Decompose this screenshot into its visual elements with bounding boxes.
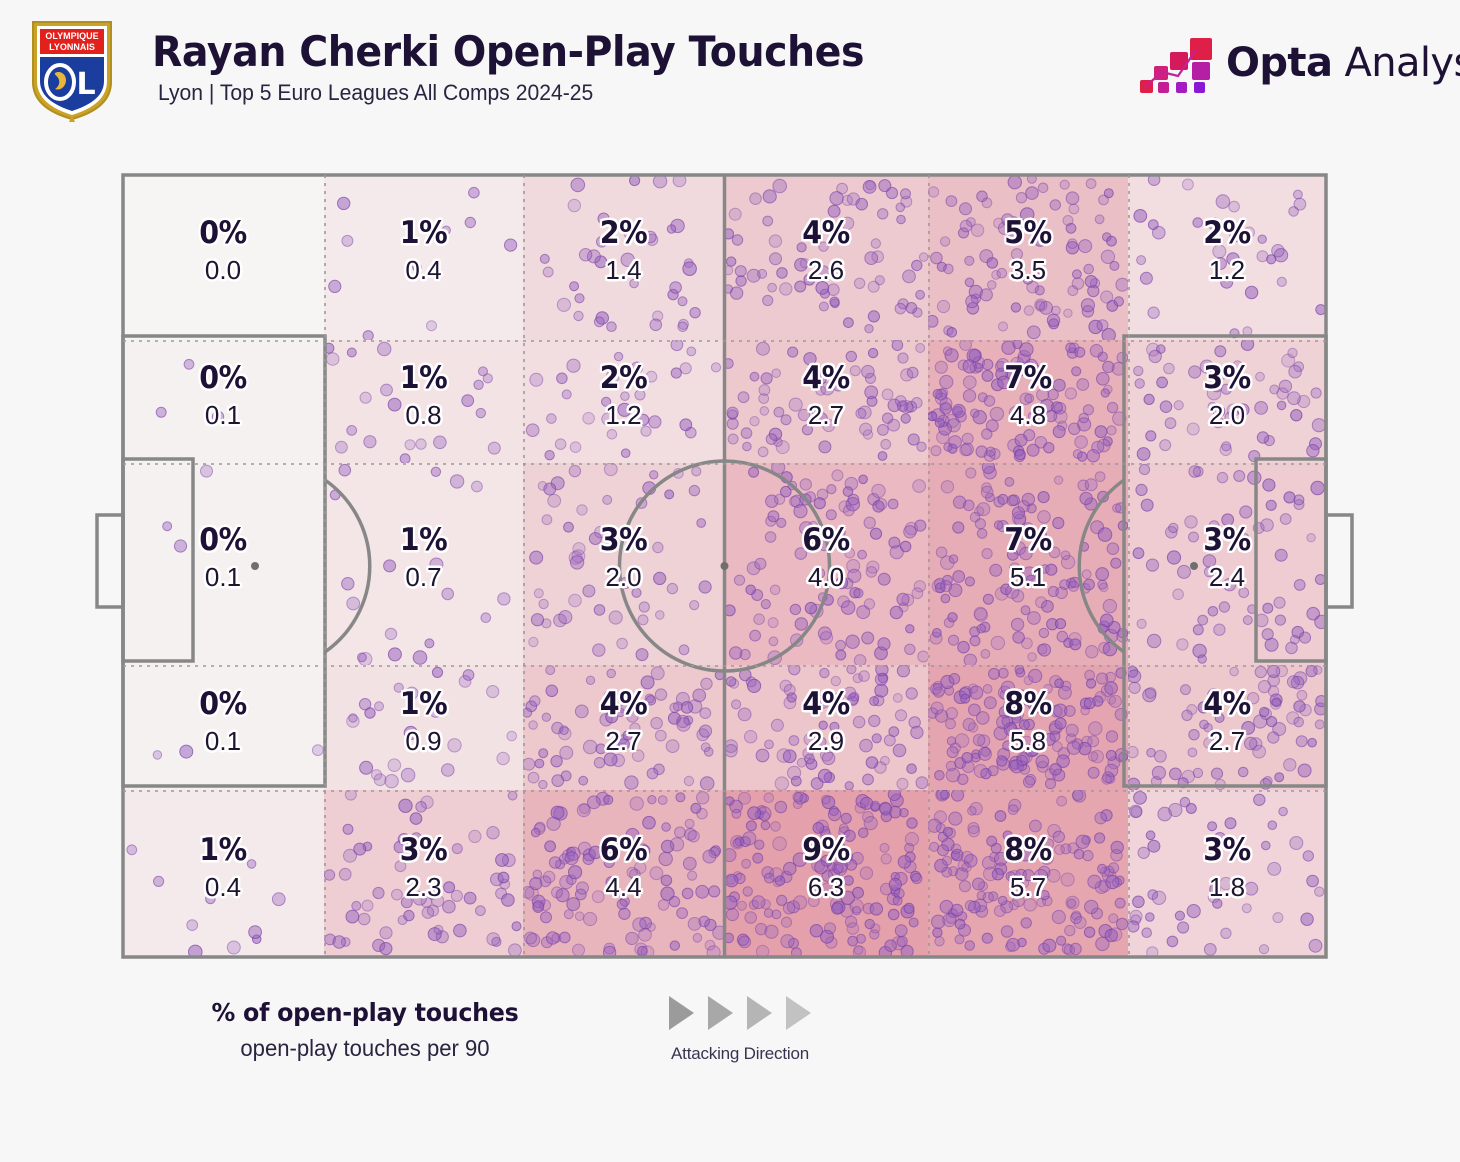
svg-text:OLYMPIQUE: OLYMPIQUE (45, 31, 98, 41)
page-title: Rayan Cherki Open-Play Touches (152, 30, 864, 75)
legend-secondary-label: open-play touches per 90 (207, 1035, 524, 1062)
attacking-direction: Attacking Direction (620, 996, 860, 1064)
pitch-heatmap: 0%0.01%0.42%1.44%2.65%3.52%1.20%0.11%0.8… (122, 174, 1326, 957)
page-subtitle: Lyon | Top 5 Euro Leagues All Comps 2024… (158, 81, 879, 105)
pitch-markings (92, 170, 1356, 961)
direction-caption: Attacking Direction (620, 1044, 860, 1064)
opta-analyst-logo: Opta Analyst (1138, 36, 1418, 102)
opta-staircase-icon (1138, 36, 1218, 100)
attacking-direction-arrow-icon (786, 996, 811, 1030)
legend: % of open-play touches open-play touches… (200, 998, 530, 1062)
opta-bold-word: Opta (1226, 40, 1332, 86)
olympique-lyonnais-crest: OLYMPIQUE LYONNAIS L (28, 18, 116, 122)
chart-footer: % of open-play touches open-play touches… (0, 978, 1460, 1098)
opta-wordmark: Opta Analyst (1226, 40, 1460, 86)
legend-primary-label: % of open-play touches (208, 998, 522, 1027)
svg-text:L: L (76, 67, 95, 102)
opta-light-word: Analyst (1344, 40, 1460, 86)
attacking-direction-arrow-icon (669, 996, 694, 1030)
attacking-direction-arrow-icon (708, 996, 733, 1030)
title-block: Rayan Cherki Open-Play Touches Lyon | To… (152, 30, 909, 105)
attacking-direction-arrow-icon (747, 996, 772, 1030)
chart-header: OLYMPIQUE LYONNAIS L Rayan Cherki Open-P… (0, 0, 1460, 150)
direction-arrow-row (620, 996, 860, 1030)
svg-text:LYONNAIS: LYONNAIS (49, 42, 95, 52)
